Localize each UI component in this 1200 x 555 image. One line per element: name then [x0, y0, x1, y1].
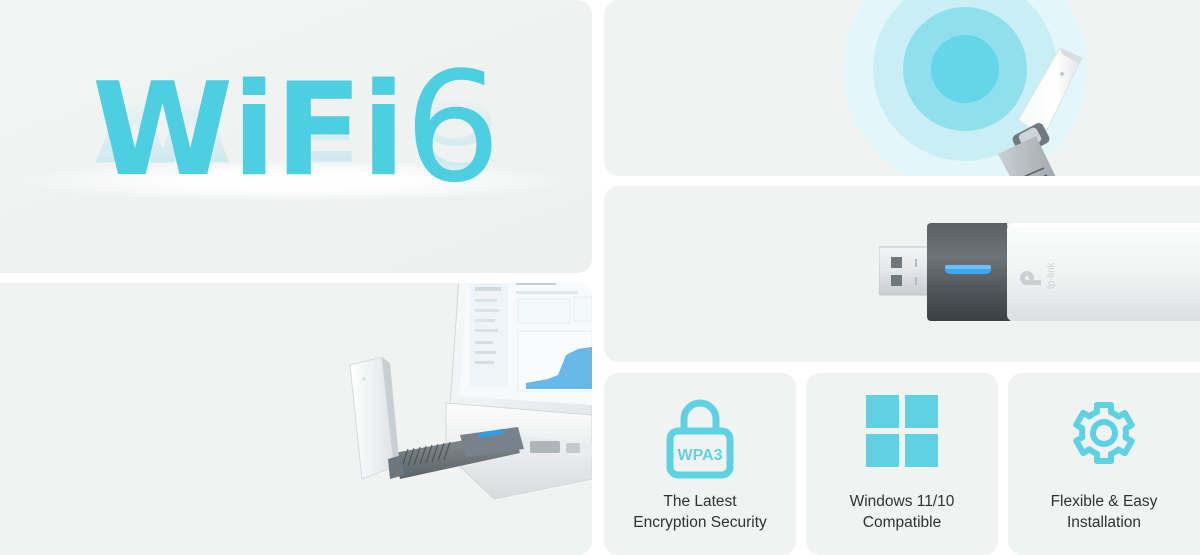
- windows-logo-icon: [806, 395, 998, 467]
- laptop-adapter-photo: [342, 283, 592, 555]
- tile-caption-line2: Compatible: [812, 512, 992, 533]
- wifi6-logo-text: WiFi6: [0, 52, 592, 204]
- tile-caption-installation: Flexible & Easy Installation: [1014, 491, 1194, 533]
- card-usb3: tp-link USB 3.0 Blazing-Fast Transfer Sp…: [604, 186, 1200, 362]
- card-ax3000: AX3000 Super-Fast Speed 5GHz: 2402 Mbps …: [0, 283, 592, 555]
- wifi6-logo: WiFi6 WiFi6: [0, 0, 592, 273]
- tile-caption-line2: Installation: [1014, 512, 1194, 533]
- antenna-adapter-graphic: [940, 24, 1100, 176]
- lock-wpa3-icon: WPA3: [604, 395, 796, 481]
- tile-easy-installation: Flexible & Easy Installation: [1008, 373, 1200, 555]
- tile-caption-line1: Windows 11/10: [812, 491, 992, 512]
- tile-caption-line2: Encryption Security: [610, 512, 790, 533]
- tile-encryption-security: WPA3 The Latest Encryption Security: [604, 373, 796, 555]
- svg-text:tp-link: tp-link: [1046, 261, 1057, 289]
- product-feature-grid: WiFi6 WiFi6: [0, 0, 1200, 555]
- usb-adapter-graphic: tp-link: [879, 221, 1200, 331]
- tile-caption-line1: Flexible & Easy: [1014, 491, 1194, 512]
- card-range-booster: Range Booster High Gain Antennas + Beamf…: [604, 0, 1200, 176]
- wpa3-badge-text: WPA3: [677, 447, 722, 464]
- tile-caption-encryption: The Latest Encryption Security: [610, 491, 790, 533]
- tile-caption-line1: The Latest: [610, 491, 790, 512]
- gear-icon: [1008, 395, 1200, 475]
- tile-caption-windows: Windows 11/10 Compatible: [812, 491, 992, 533]
- card-wifi6-hero: WiFi6 WiFi6: [0, 0, 592, 273]
- tile-windows-compatible: Windows 11/10 Compatible: [806, 373, 998, 555]
